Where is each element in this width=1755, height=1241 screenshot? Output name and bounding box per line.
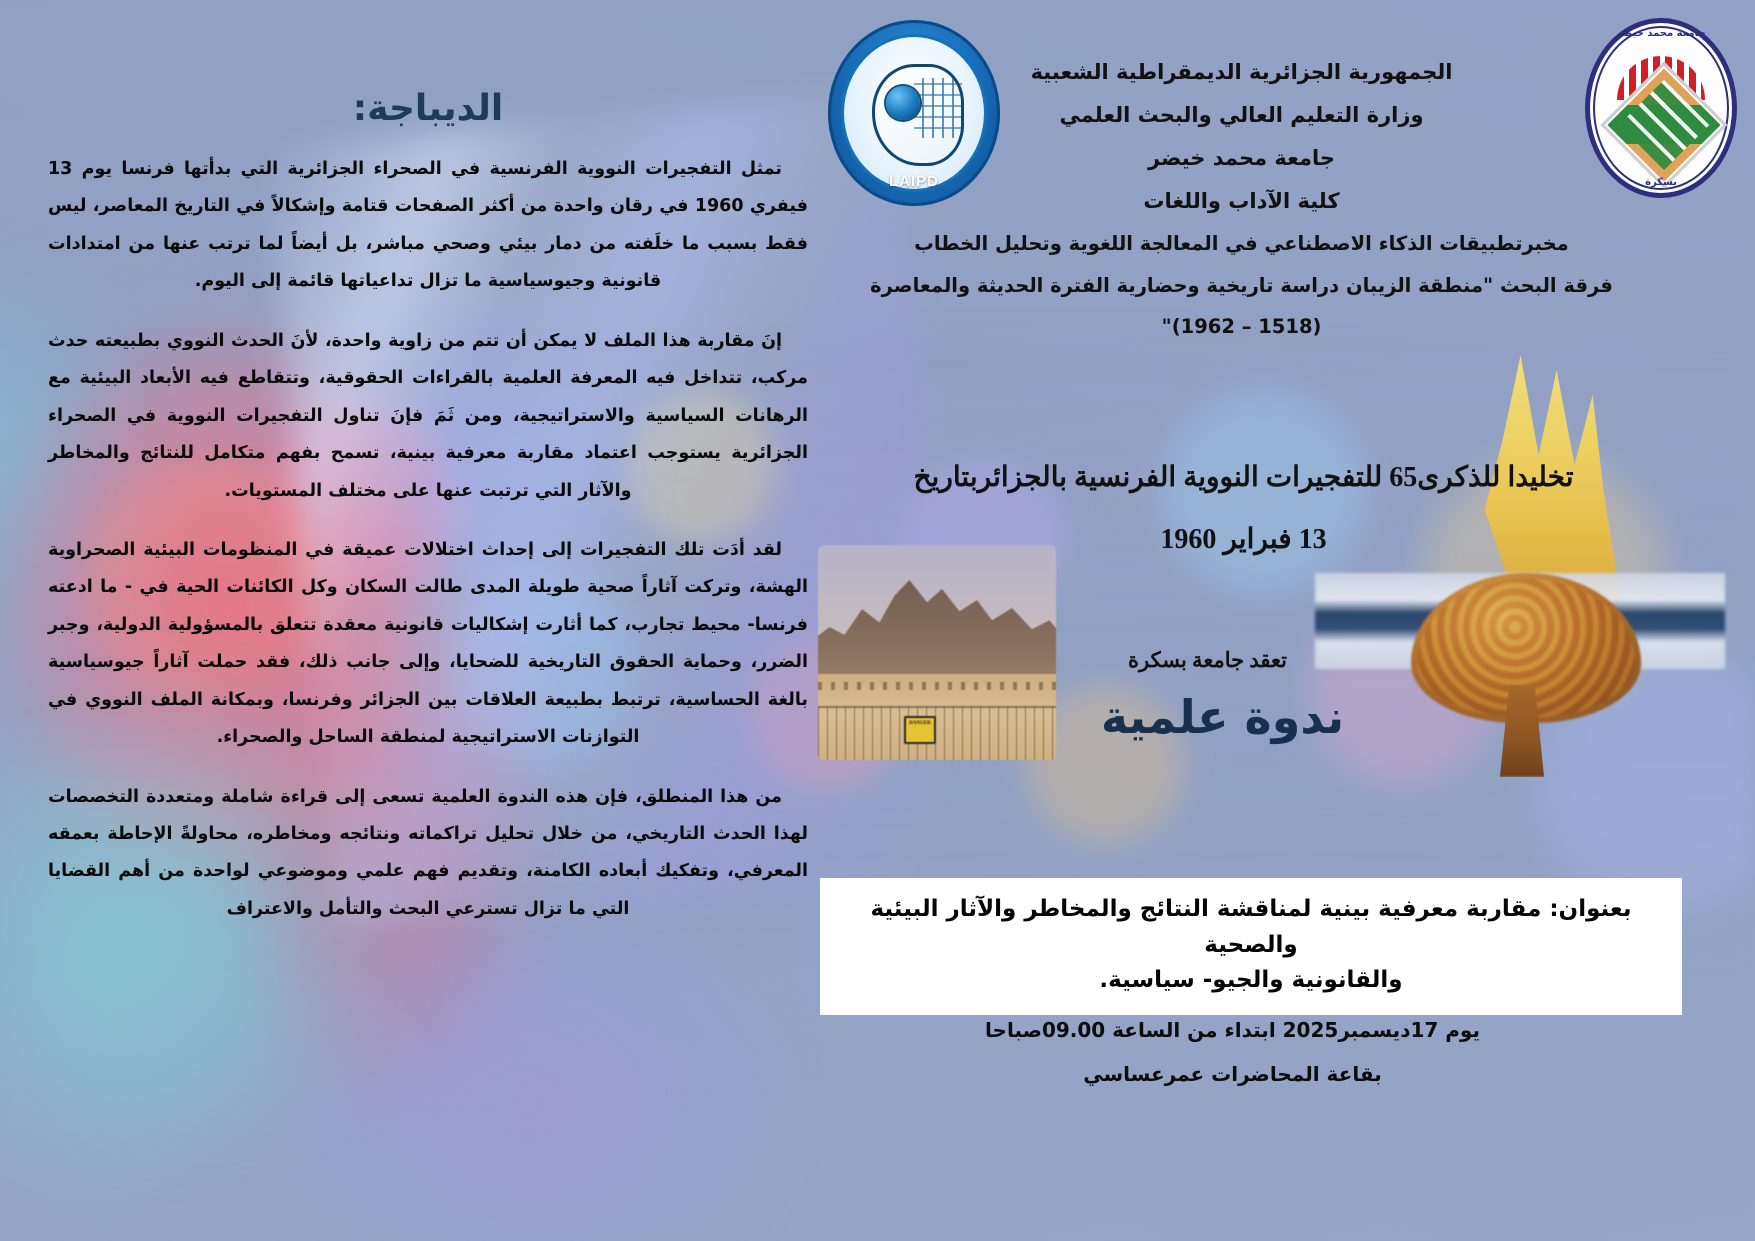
preamble-paragraph-1: تمثل التفجيرات النووية الفرنسية في الصحر… — [48, 151, 808, 301]
banner-line-2: والقانونية والجيو- سياسية. — [836, 963, 1666, 999]
banner-line-1: بعنوان: مقاربة معرفية بينية لمناقشة النت… — [836, 892, 1666, 963]
preamble-paragraph-2: إنَ مقاربة هذا الملف لا يمكن أن تتم من ز… — [48, 323, 808, 510]
commemoration-title: تخليدا للذكرى65 للتفجيرات النووية الفرنس… — [820, 460, 1667, 556]
event-date-time: يوم 17ديسمبر2025 ابتداء من الساعة 09.00ص… — [820, 1018, 1645, 1042]
header-line-faculty: كلية الآداب واللغات — [820, 191, 1663, 212]
event-kind-title: ندوة علمية — [820, 690, 1625, 744]
header-line-team-1: فرقة البحث "منطقة الزيبان دراسة تاريخية … — [820, 276, 1663, 296]
event-venue: بقاعة المحاضرات عمرعساسي — [820, 1062, 1645, 1086]
preamble-title: الديباجة: — [48, 88, 808, 129]
seminar-poster: DANGER الديباجة: تمثل التفجيرات النووية … — [0, 0, 1755, 1241]
right-column: LAIPD جامعة محمد خيضر بسكرة الجمهورية ال… — [820, 0, 1755, 1241]
commemoration-line-1: تخليدا للذكرى65 للتفجيرات النووية الفرنس… — [820, 460, 1667, 494]
preamble-paragraph-4: من هذا المنطلق، فإن هذه الندوة العلمية ت… — [48, 779, 808, 929]
hosted-by-text: تعقد جامعة بسكرة — [820, 648, 1595, 673]
logo-top-text: جامعة محمد خيضر — [1585, 28, 1737, 39]
institutional-header: الجمهورية الجزائرية الديمقراطية الشعبية … — [820, 62, 1663, 359]
header-line-team-2: (1518 – 1962)" — [820, 317, 1663, 337]
seminar-subtitle-banner: بعنوان: مقاربة معرفية بينية لمناقشة النت… — [820, 878, 1682, 1015]
commemoration-line-2: 13 فبراير 1960 — [820, 522, 1667, 556]
header-line-republic: الجمهورية الجزائرية الديمقراطية الشعبية — [820, 62, 1663, 83]
preamble-paragraph-3: لقد أدَت تلك التفجيرات إلى إحداث اختلالا… — [48, 532, 808, 757]
header-line-laboratory: مخبرتطبيقات الذكاء الاصطناعي في المعالجة… — [820, 234, 1663, 254]
header-line-ministry: وزارة التعليم العالي والبحث العلمي — [820, 105, 1663, 126]
header-line-university: جامعة محمد خيضر — [820, 148, 1663, 169]
preamble-section: الديباجة: تمثل التفجيرات النووية الفرنسي… — [48, 88, 808, 950]
